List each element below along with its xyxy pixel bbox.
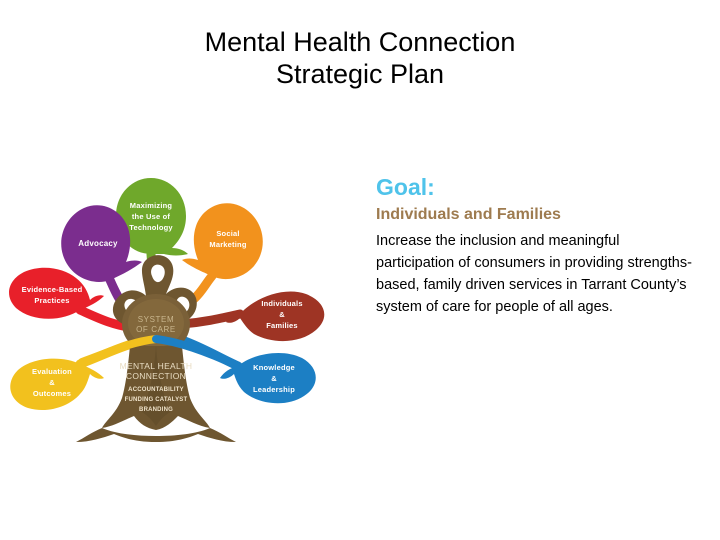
page-title: Mental Health Connection Strategic Plan	[60, 26, 660, 90]
system-of-care-tree-diagram: Maximizing the Use of Technology Advocac…	[6, 176, 336, 448]
leaf-maximizing-technology-line-3: Technology	[129, 223, 173, 232]
leaf-individuals-families-line-2: &	[279, 310, 285, 319]
mental-health-connection-line-1: MENTAL HEALTH	[120, 361, 193, 371]
leaf-advocacy-label: Advocacy	[78, 239, 118, 248]
leaf-individuals-families-line-3: Families	[266, 321, 298, 330]
leaf-maximizing-technology-line-2: the Use of	[132, 212, 171, 221]
goal-body-text: Increase the inclusion and meaningful pa…	[376, 230, 696, 318]
trunk-funding-catalyst: FUNDING CATALYST	[125, 397, 188, 403]
leaf-evidence-based-practices-line-1: Evidence-Based	[22, 285, 83, 294]
leaf-social-marketing[interactable]: Social Marketing	[182, 203, 263, 279]
leaf-evaluation-outcomes[interactable]: Evaluation & Outcomes	[10, 359, 104, 410]
page-title-line-1: Mental Health Connection	[60, 26, 660, 58]
leaf-individuals-families[interactable]: Individuals & Families	[226, 291, 324, 341]
system-of-care-line-2: OF CARE	[136, 325, 176, 334]
trunk-roots	[76, 428, 236, 442]
leaf-knowledge-leadership-line-3: Leadership	[253, 385, 295, 394]
leaf-evidence-based-practices-line-2: Practices	[34, 296, 69, 305]
leaf-evaluation-outcomes-line-2: &	[49, 378, 55, 387]
leaf-evaluation-outcomes-line-1: Evaluation	[32, 367, 72, 376]
mental-health-connection-line-2: CONNECTION	[126, 371, 186, 381]
leaf-social-marketing-line-1: Social	[216, 229, 239, 238]
trunk-branding: BRANDING	[139, 407, 173, 413]
leaf-evaluation-outcomes-line-3: Outcomes	[33, 389, 71, 398]
goal-heading: Goal:	[376, 174, 696, 201]
leaf-knowledge-leadership-line-2: &	[271, 374, 277, 383]
system-of-care-line-1: SYSTEM	[138, 315, 175, 324]
goal-subheading: Individuals and Families	[376, 205, 696, 225]
leaf-individuals-families-line-1: Individuals	[261, 299, 302, 308]
leaf-maximizing-technology-line-1: Maximizing	[130, 201, 173, 210]
leaf-social-marketing-line-2: Marketing	[209, 240, 246, 249]
trunk-accountability: ACCOUNTABILITY	[128, 387, 184, 393]
page-title-line-2: Strategic Plan	[60, 58, 660, 90]
goal-panel: Goal: Individuals and Families Increase …	[376, 174, 696, 318]
leaf-knowledge-leadership-line-1: Knowledge	[253, 363, 295, 372]
